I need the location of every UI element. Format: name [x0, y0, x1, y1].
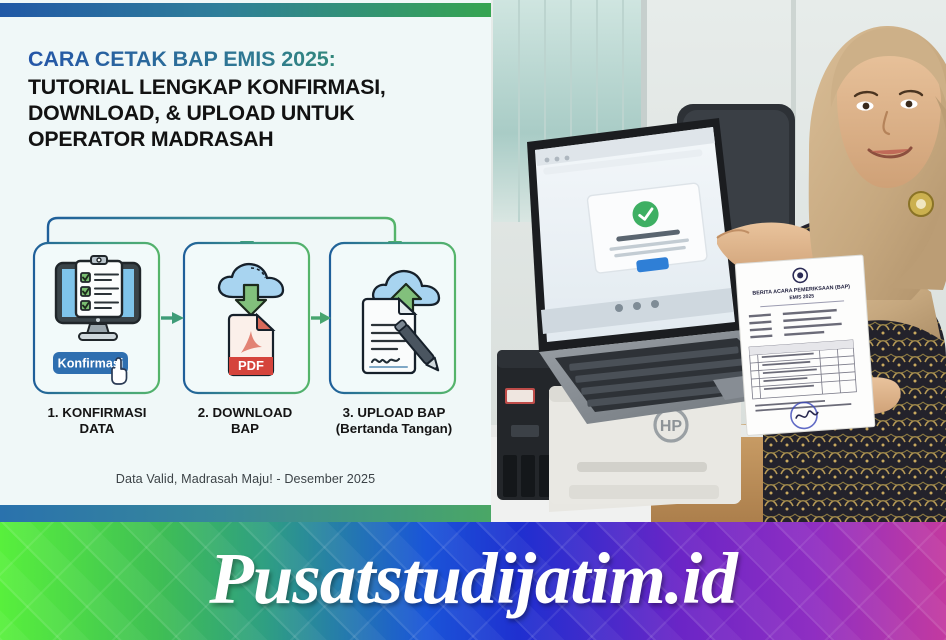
title-line-2: DOWNLOAD, & UPLOAD UNTUK — [28, 101, 478, 127]
bap-document: BERITA ACARA PEMERIKSAAN (BAP) EMIS 2025 — [735, 255, 875, 436]
card-footnote: Data Valid, Madrasah Maju! - Desember 20… — [0, 472, 491, 486]
photo-illustration: HP — [491, 0, 946, 522]
flow-step-1-caption: 1. KONFIRMASI DATA — [22, 405, 172, 438]
flow-step-2-caption-line-1: 2. DOWNLOAD — [170, 405, 320, 421]
flow-step-1-caption-line-1: 1. KONFIRMASI — [22, 405, 172, 421]
title-line-3: OPERATOR MADRASAH — [28, 127, 478, 153]
title-kicker: CARA CETAK BAP EMIS 2025: — [28, 47, 478, 71]
flow-step-download[interactable] — [184, 243, 309, 393]
flow-step-3-caption: 3. UPLOAD BAP (Bertanda Tangan) — [319, 405, 469, 438]
photo-operator-madrasah: HP — [491, 0, 946, 522]
flow-step-2-caption: 2. DOWNLOAD BAP — [170, 405, 320, 438]
page-title: CARA CETAK BAP EMIS 2025: TUTORIAL LENGK… — [28, 47, 478, 153]
site-watermark-text: Pusatstudijatim.id — [0, 522, 946, 640]
infographic-card: CARA CETAK BAP EMIS 2025: TUTORIAL LENGK… — [0, 0, 491, 522]
card-content: CARA CETAK BAP EMIS 2025: TUTORIAL LENGK… — [0, 17, 491, 505]
flow-step-3-caption-line-2: (Bertanda Tangan) — [319, 421, 469, 437]
card-top-accent-bar — [0, 3, 491, 17]
printer-brand-label: HP — [660, 418, 683, 435]
title-line-1: TUTORIAL LENGKAP KONFIRMASI, — [28, 75, 478, 101]
infographic-page: CARA CETAK BAP EMIS 2025: TUTORIAL LENGK… — [0, 0, 946, 640]
site-watermark-banner: Pusatstudijatim.id — [0, 522, 946, 640]
laptop-success-dialog — [587, 183, 707, 276]
flow-step-konfirmasi[interactable] — [34, 243, 159, 393]
process-flow-diagram: Konfirmasi — [22, 213, 472, 463]
flow-step-upload[interactable] — [330, 243, 455, 393]
brooch — [909, 192, 933, 216]
flow-step-3-caption-line-1: 3. UPLOAD BAP — [319, 405, 469, 421]
card-bottom-accent-bar — [0, 505, 491, 522]
flow-step-1-caption-line-2: DATA — [22, 421, 172, 437]
flow-step-2-caption-line-2: BAP — [170, 421, 320, 437]
